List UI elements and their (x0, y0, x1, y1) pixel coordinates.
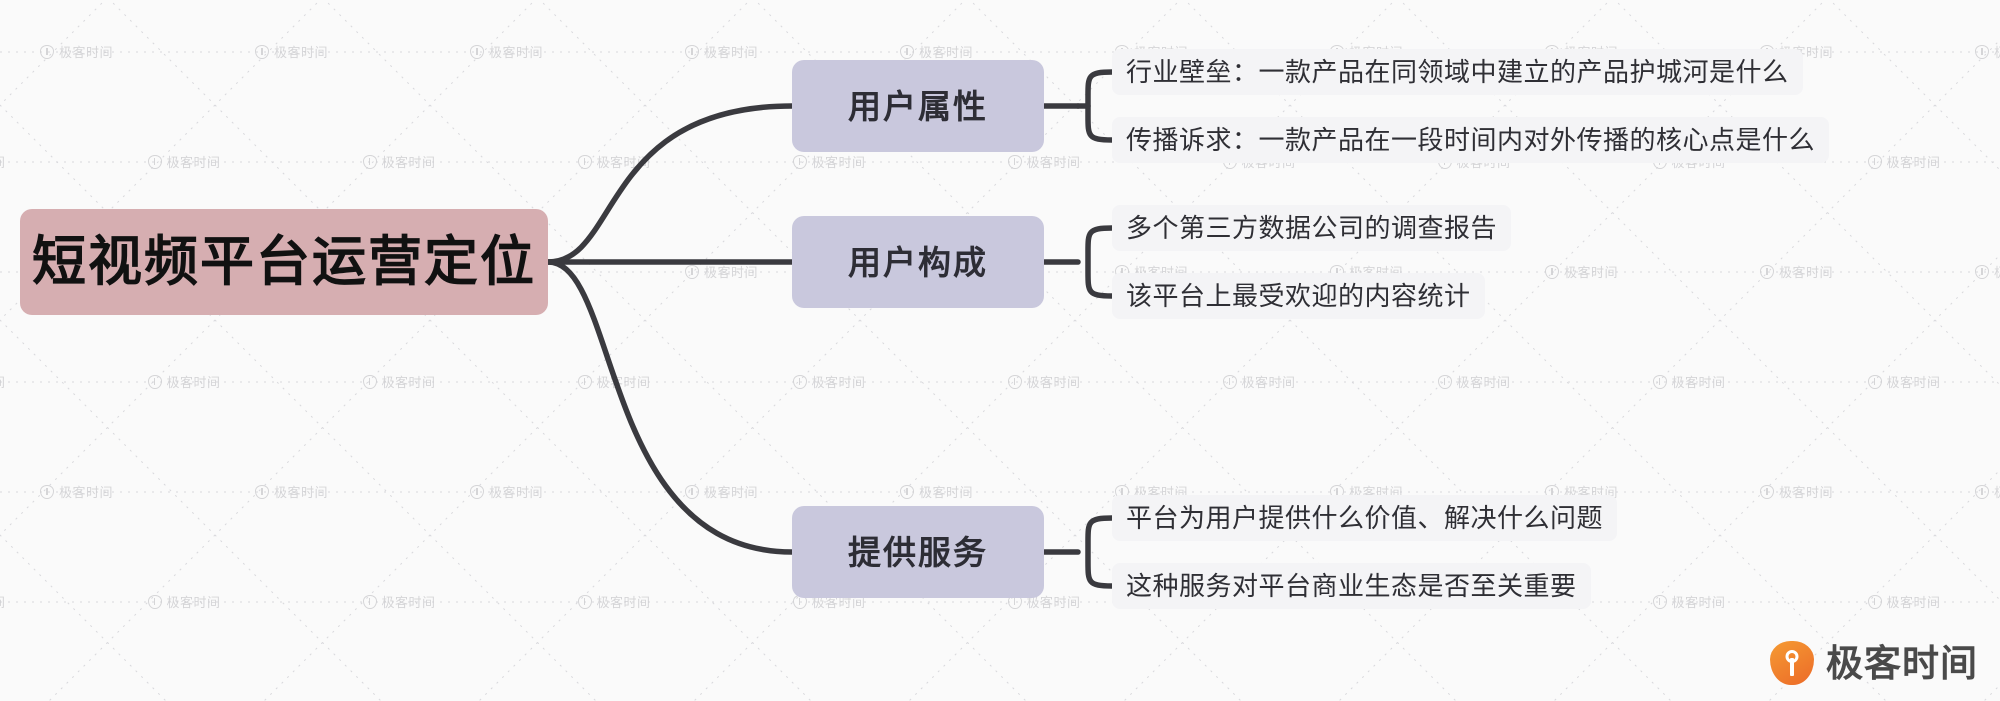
watermark-label: 极客时间 (0, 592, 6, 611)
watermark-pin-icon (578, 375, 592, 389)
watermark-pin-icon (1868, 595, 1882, 609)
watermark-pin-icon (1653, 375, 1667, 389)
watermark-label: 极客时间 (919, 482, 973, 501)
watermark-item: 极客时间 (578, 372, 651, 391)
mindmap-leaf-node[interactable]: 该平台上最受欢迎的内容统计 (1112, 273, 1485, 319)
bracket-branch-3-curve (1088, 518, 1112, 586)
mindmap-canvas: 极客时间极客时间极客时间极客时间极客时间极客时间极客时间极客时间极客时间极客时间… (0, 0, 2000, 701)
watermark-pin-icon (1545, 265, 1559, 279)
connector-root-to-branch-1 (548, 106, 792, 262)
watermark-label: 极客时间 (1779, 262, 1833, 281)
watermark-label: 极客时间 (489, 482, 543, 501)
watermark-item: 极客时间 (255, 42, 328, 61)
geektime-pin-icon (1770, 641, 1814, 685)
watermark-item: 极客时间 (578, 592, 651, 611)
watermark-item: 极客时间 (685, 42, 758, 61)
watermark-item: 极客时间 (793, 152, 866, 171)
watermark-label: 极客时间 (382, 372, 436, 391)
watermark-pin-icon (1975, 485, 1989, 499)
connector-root-to-branch-3 (548, 262, 792, 552)
watermark-item: 极客时间 (470, 482, 543, 501)
watermark-item: 极客时间 (793, 372, 866, 391)
watermark-label: 极客时间 (1027, 152, 1081, 171)
leaf-node-label: 传播诉求：一款产品在一段时间内对外传播的核心点是什么 (1126, 127, 1815, 153)
watermark-pin-icon (578, 155, 592, 169)
watermark-item: 极客时间 (255, 482, 328, 501)
watermark-label: 极客时间 (0, 152, 6, 171)
watermark-pin-icon (1760, 485, 1774, 499)
bracket-branch-1-curve (1088, 72, 1112, 140)
watermark-pin-icon (1868, 155, 1882, 169)
watermark-item: 极客时间 (0, 592, 6, 611)
watermark-label: 极客时间 (167, 592, 221, 611)
watermark-label: 极客时间 (489, 42, 543, 61)
watermark-label: 极客时间 (1564, 262, 1618, 281)
watermark-pin-icon (1008, 375, 1022, 389)
watermark-pin-icon (1760, 265, 1774, 279)
watermark-label: 极客时间 (274, 42, 328, 61)
watermark-item: 极客时间 (1008, 372, 1081, 391)
watermark-label: 极客时间 (812, 372, 866, 391)
watermark-label: 极客时间 (1887, 592, 1941, 611)
watermark-pin-icon (900, 485, 914, 499)
watermark-item: 极客时间 (148, 592, 221, 611)
branch-node-1-label: 用户属性 (848, 90, 988, 123)
watermark-item: 极客时间 (363, 592, 436, 611)
watermark-label: 极客时间 (1994, 42, 2000, 61)
watermark-label: 极客时间 (167, 152, 221, 171)
watermark-label: 极客时间 (59, 42, 113, 61)
leaf-node-label: 平台为用户提供什么价值、解决什么问题 (1126, 505, 1603, 531)
watermark-pin-icon (470, 45, 484, 59)
watermark-pin-icon (793, 375, 807, 389)
leaf-node-label: 这种服务对平台商业生态是否至关重要 (1126, 573, 1577, 599)
watermark-item: 极客时间 (900, 482, 973, 501)
watermark-pin-icon (1653, 595, 1667, 609)
watermark-item: 极客时间 (1868, 372, 1941, 391)
watermark-pin-icon (685, 45, 699, 59)
watermark-label: 极客时间 (1779, 482, 1833, 501)
watermark-label: 极客时间 (704, 482, 758, 501)
watermark-pin-icon (148, 155, 162, 169)
watermark-item: 极客时间 (1868, 592, 1941, 611)
watermark-pin-icon (363, 155, 377, 169)
watermark-label: 极客时间 (382, 152, 436, 171)
mindmap-branch-node-1[interactable]: 用户属性 (792, 60, 1044, 152)
watermark-item: 极客时间 (1975, 262, 2000, 281)
watermark-pin-icon (1975, 45, 1989, 59)
watermark-item: 极客时间 (363, 152, 436, 171)
watermark-item: 极客时间 (40, 482, 113, 501)
bracket-branch-2-curve (1088, 228, 1112, 296)
watermark-label: 极客时间 (1672, 592, 1726, 611)
watermark-label: 极客时间 (1887, 152, 1941, 171)
watermark-pin-icon (363, 375, 377, 389)
watermark-label: 极客时间 (274, 482, 328, 501)
watermark-item: 极客时间 (0, 372, 6, 391)
watermark-label: 极客时间 (1994, 482, 2000, 501)
watermark-item: 极客时间 (1545, 262, 1618, 281)
watermark-pin-icon (40, 485, 54, 499)
watermark-item: 极客时间 (685, 482, 758, 501)
watermark-label: 极客时间 (919, 42, 973, 61)
watermark-pin-icon (148, 595, 162, 609)
watermark-label: 极客时间 (382, 592, 436, 611)
watermark-label: 极客时间 (704, 262, 758, 281)
watermark-pin-icon (470, 485, 484, 499)
mindmap-leaf-node[interactable]: 平台为用户提供什么价值、解决什么问题 (1112, 495, 1617, 541)
watermark-item: 极客时间 (1760, 262, 1833, 281)
watermark-item: 极客时间 (363, 372, 436, 391)
watermark-label: 极客时间 (1887, 372, 1941, 391)
watermark-item: 极客时间 (1760, 482, 1833, 501)
watermark-label: 极客时间 (1672, 372, 1726, 391)
watermark-label: 极客时间 (812, 152, 866, 171)
watermark-pin-icon (1868, 375, 1882, 389)
watermark-pin-icon (1008, 155, 1022, 169)
brand-logo: 极客时间 (1770, 641, 1978, 685)
watermark-label: 极客时间 (1242, 372, 1296, 391)
watermark-item: 极客时间 (578, 152, 651, 171)
watermark-item: 极客时间 (0, 152, 6, 171)
watermark-pin-icon (1223, 375, 1237, 389)
mindmap-branch-node-2[interactable]: 用户构成 (792, 216, 1044, 308)
watermark-item: 极客时间 (1653, 372, 1726, 391)
watermark-label: 极客时间 (1457, 372, 1511, 391)
mindmap-leaf-node[interactable]: 这种服务对平台商业生态是否至关重要 (1112, 563, 1591, 609)
watermark-label: 极客时间 (59, 482, 113, 501)
branch-node-2-label: 用户构成 (848, 246, 988, 279)
watermark-item: 极客时间 (900, 42, 973, 61)
mindmap-leaf-node[interactable]: 传播诉求：一款产品在一段时间内对外传播的核心点是什么 (1112, 117, 1829, 163)
leaf-node-label: 该平台上最受欢迎的内容统计 (1126, 283, 1471, 309)
watermark-pin-icon (363, 595, 377, 609)
watermark-pin-icon (1975, 265, 1989, 279)
watermark-pin-icon (40, 45, 54, 59)
mindmap-leaf-node[interactable]: 行业壁垒：一款产品在同领域中建立的产品护城河是什么 (1112, 49, 1803, 95)
watermark-pin-icon (685, 265, 699, 279)
watermark-item: 极客时间 (1438, 372, 1511, 391)
root-node-label: 短视频平台运营定位 (32, 235, 536, 289)
watermark-label: 极客时间 (1994, 262, 2000, 281)
watermark-pin-icon (685, 485, 699, 499)
watermark-item: 极客时间 (1008, 152, 1081, 171)
watermark-pin-icon (793, 155, 807, 169)
brand-name: 极客时间 (1826, 645, 1978, 682)
watermark-pin-icon (255, 45, 269, 59)
watermark-item: 极客时间 (685, 262, 758, 281)
watermark-pin-icon (578, 595, 592, 609)
watermark-label: 极客时间 (167, 372, 221, 391)
watermark-label: 极客时间 (597, 372, 651, 391)
leaf-node-label: 多个第三方数据公司的调查报告 (1126, 215, 1497, 241)
watermark-item: 极客时间 (40, 42, 113, 61)
watermark-pin-icon (148, 375, 162, 389)
watermark-item: 极客时间 (148, 152, 221, 171)
watermark-label: 极客时间 (704, 42, 758, 61)
watermark-item: 极客时间 (1653, 592, 1726, 611)
leaf-node-label: 行业壁垒：一款产品在同领域中建立的产品护城河是什么 (1126, 59, 1789, 85)
watermark-label: 极客时间 (597, 592, 651, 611)
watermark-label: 极客时间 (597, 152, 651, 171)
watermark-item: 极客时间 (1868, 152, 1941, 171)
mindmap-leaf-node[interactable]: 多个第三方数据公司的调查报告 (1112, 205, 1511, 251)
watermark-item: 极客时间 (1975, 482, 2000, 501)
watermark-label: 极客时间 (0, 372, 6, 391)
watermark-item: 极客时间 (470, 42, 543, 61)
watermark-item: 极客时间 (148, 372, 221, 391)
mindmap-branch-node-3[interactable]: 提供服务 (792, 506, 1044, 598)
watermark-label: 极客时间 (1027, 372, 1081, 391)
watermark-pin-icon (900, 45, 914, 59)
watermark-item: 极客时间 (1223, 372, 1296, 391)
mindmap-root-node[interactable]: 短视频平台运营定位 (20, 209, 548, 315)
watermark-pin-icon (255, 485, 269, 499)
branch-node-3-label: 提供服务 (848, 536, 988, 569)
watermark-pin-icon (1438, 375, 1452, 389)
watermark-item: 极客时间 (1975, 42, 2000, 61)
